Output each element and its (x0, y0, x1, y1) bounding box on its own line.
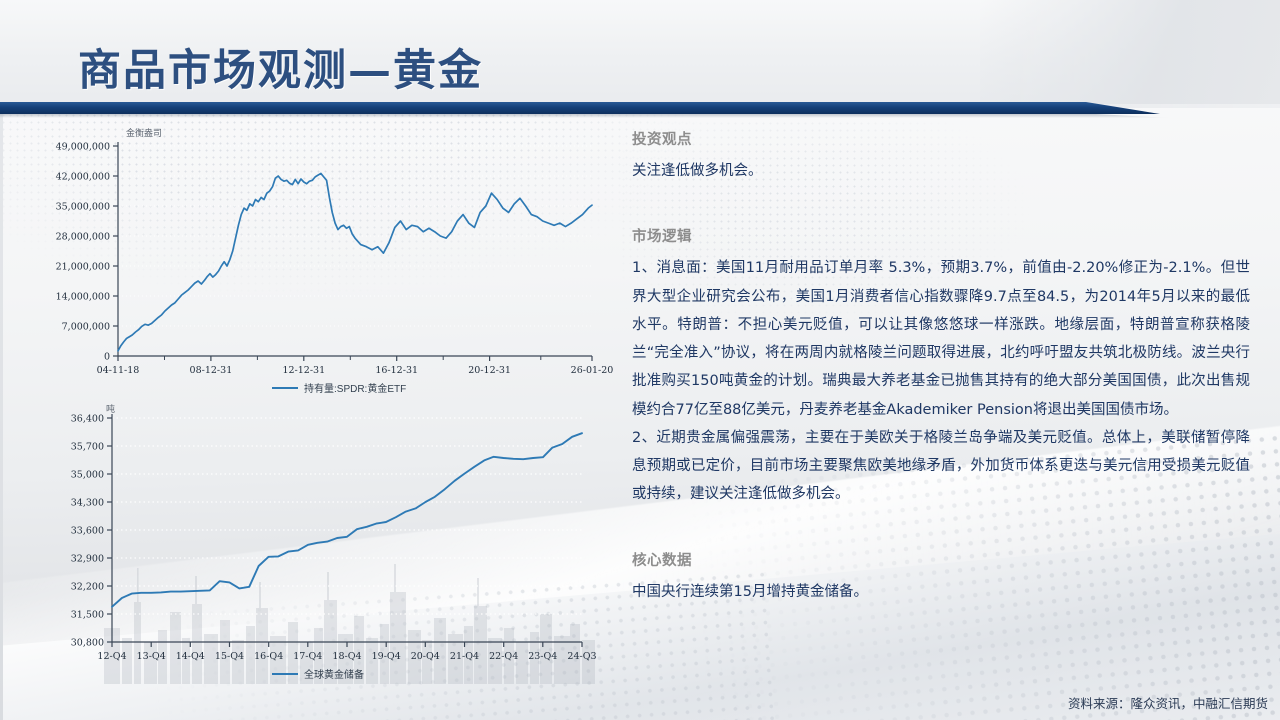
svg-text:18-Q4: 18-Q4 (332, 651, 361, 662)
chart-global-gold-reserves: 吨 30,80031,50032,20032,90033,60034,30035… (0, 400, 620, 720)
section-heading-investment-view: 投资观点 (632, 128, 1250, 149)
svg-text:20-12-31: 20-12-31 (468, 365, 511, 376)
svg-text:30,800: 30,800 (71, 638, 104, 649)
svg-text:35,000: 35,000 (71, 470, 104, 481)
svg-text:0: 0 (104, 352, 110, 363)
svg-text:23-Q4: 23-Q4 (528, 651, 557, 662)
svg-text:26-01-20: 26-01-20 (571, 365, 614, 376)
chart1-legend-label: 持有量:SPDR:黄金ETF (304, 380, 406, 395)
chart2-legend-label: 全球黄金储备 (304, 666, 364, 681)
svg-text:08-12-31: 08-12-31 (190, 365, 233, 376)
chart-spdr-gold-etf-holdings: 金衡盎司 07,000,00014,000,00021,000,00028,00… (0, 118, 620, 408)
svg-text:16-12-31: 16-12-31 (375, 365, 418, 376)
svg-text:42,000,000: 42,000,000 (56, 172, 110, 183)
chart1-plot: 07,000,00014,000,00021,000,00028,000,000… (0, 118, 620, 378)
svg-text:22-Q4: 22-Q4 (489, 651, 518, 662)
page-title: 商品市场观测—黄金 (78, 36, 483, 98)
svg-text:19-Q4: 19-Q4 (372, 651, 401, 662)
svg-text:33,600: 33,600 (71, 526, 104, 537)
section-heading-core-data: 核心数据 (632, 549, 1250, 570)
svg-text:36,400: 36,400 (71, 414, 104, 425)
header-accent-band (0, 102, 1160, 114)
svg-text:7,000,000: 7,000,000 (62, 322, 110, 333)
market-logic-paragraph-1: 1、消息面：美国11月耐用品订单月率 5.3%，预期3.7%，前值由-2.20%… (632, 254, 1250, 424)
svg-text:32,200: 32,200 (71, 582, 104, 593)
header-right-fade (980, 0, 1280, 104)
svg-text:16-Q4: 16-Q4 (254, 651, 283, 662)
section-body-investment-view: 关注逢低做多机会。 (632, 157, 1250, 185)
svg-text:15-Q4: 15-Q4 (215, 651, 244, 662)
section-body-market-logic: 1、消息面：美国11月耐用品订单月率 5.3%，预期3.7%，前值由-2.20%… (632, 254, 1250, 508)
chart2-legend-swatch (272, 673, 298, 675)
svg-text:14,000,000: 14,000,000 (56, 292, 110, 303)
svg-text:12-12-31: 12-12-31 (282, 365, 325, 376)
svg-text:49,000,000: 49,000,000 (56, 142, 110, 153)
spacer-2 (632, 509, 1250, 549)
svg-text:17-Q4: 17-Q4 (293, 651, 322, 662)
chart1-unit-label: 金衡盎司 (126, 126, 162, 139)
svg-text:24-Q3: 24-Q3 (567, 651, 596, 662)
svg-text:34,300: 34,300 (71, 498, 104, 509)
svg-text:13-Q4: 13-Q4 (137, 651, 166, 662)
svg-text:32,900: 32,900 (71, 554, 104, 565)
svg-text:31,500: 31,500 (71, 610, 104, 621)
section-body-core-data: 中国央行连续第15月增持黄金储备。 (632, 578, 1250, 606)
svg-text:04-11-18: 04-11-18 (97, 365, 140, 376)
commentary-panel: 投资观点 关注逢低做多机会。 市场逻辑 1、消息面：美国11月耐用品订单月率 5… (632, 128, 1250, 606)
svg-text:12-Q4: 12-Q4 (97, 651, 126, 662)
chart1-legend: 持有量:SPDR:黄金ETF (272, 380, 406, 395)
svg-text:20-Q4: 20-Q4 (411, 651, 440, 662)
market-logic-paragraph-2: 2、近期贵金属偏强震荡，主要在于美欧关于格陵兰岛争端及美元贬值。总体上，美联储暂… (632, 424, 1250, 509)
svg-text:14-Q4: 14-Q4 (176, 651, 205, 662)
svg-text:21-Q4: 21-Q4 (450, 651, 479, 662)
chart1-legend-swatch (272, 387, 298, 389)
svg-text:21,000,000: 21,000,000 (56, 262, 110, 273)
charts-column: 金衡盎司 07,000,00014,000,00021,000,00028,00… (0, 118, 620, 698)
slide-root: 商品市场观测—黄金 金衡盎司 07,000,00014,000,00021,00… (0, 0, 1280, 720)
chart2-plot: 30,80031,50032,20032,90033,60034,30035,0… (0, 400, 620, 690)
svg-text:28,000,000: 28,000,000 (56, 232, 110, 243)
source-note: 资料来源：隆众资讯，中融汇信期货 (1068, 693, 1268, 712)
svg-text:35,700: 35,700 (71, 442, 104, 453)
spacer-1 (632, 185, 1250, 225)
svg-text:35,000,000: 35,000,000 (56, 202, 110, 213)
section-heading-market-logic: 市场逻辑 (632, 225, 1250, 246)
chart2-legend: 全球黄金储备 (272, 666, 364, 681)
chart2-unit-label: 吨 (106, 402, 115, 415)
